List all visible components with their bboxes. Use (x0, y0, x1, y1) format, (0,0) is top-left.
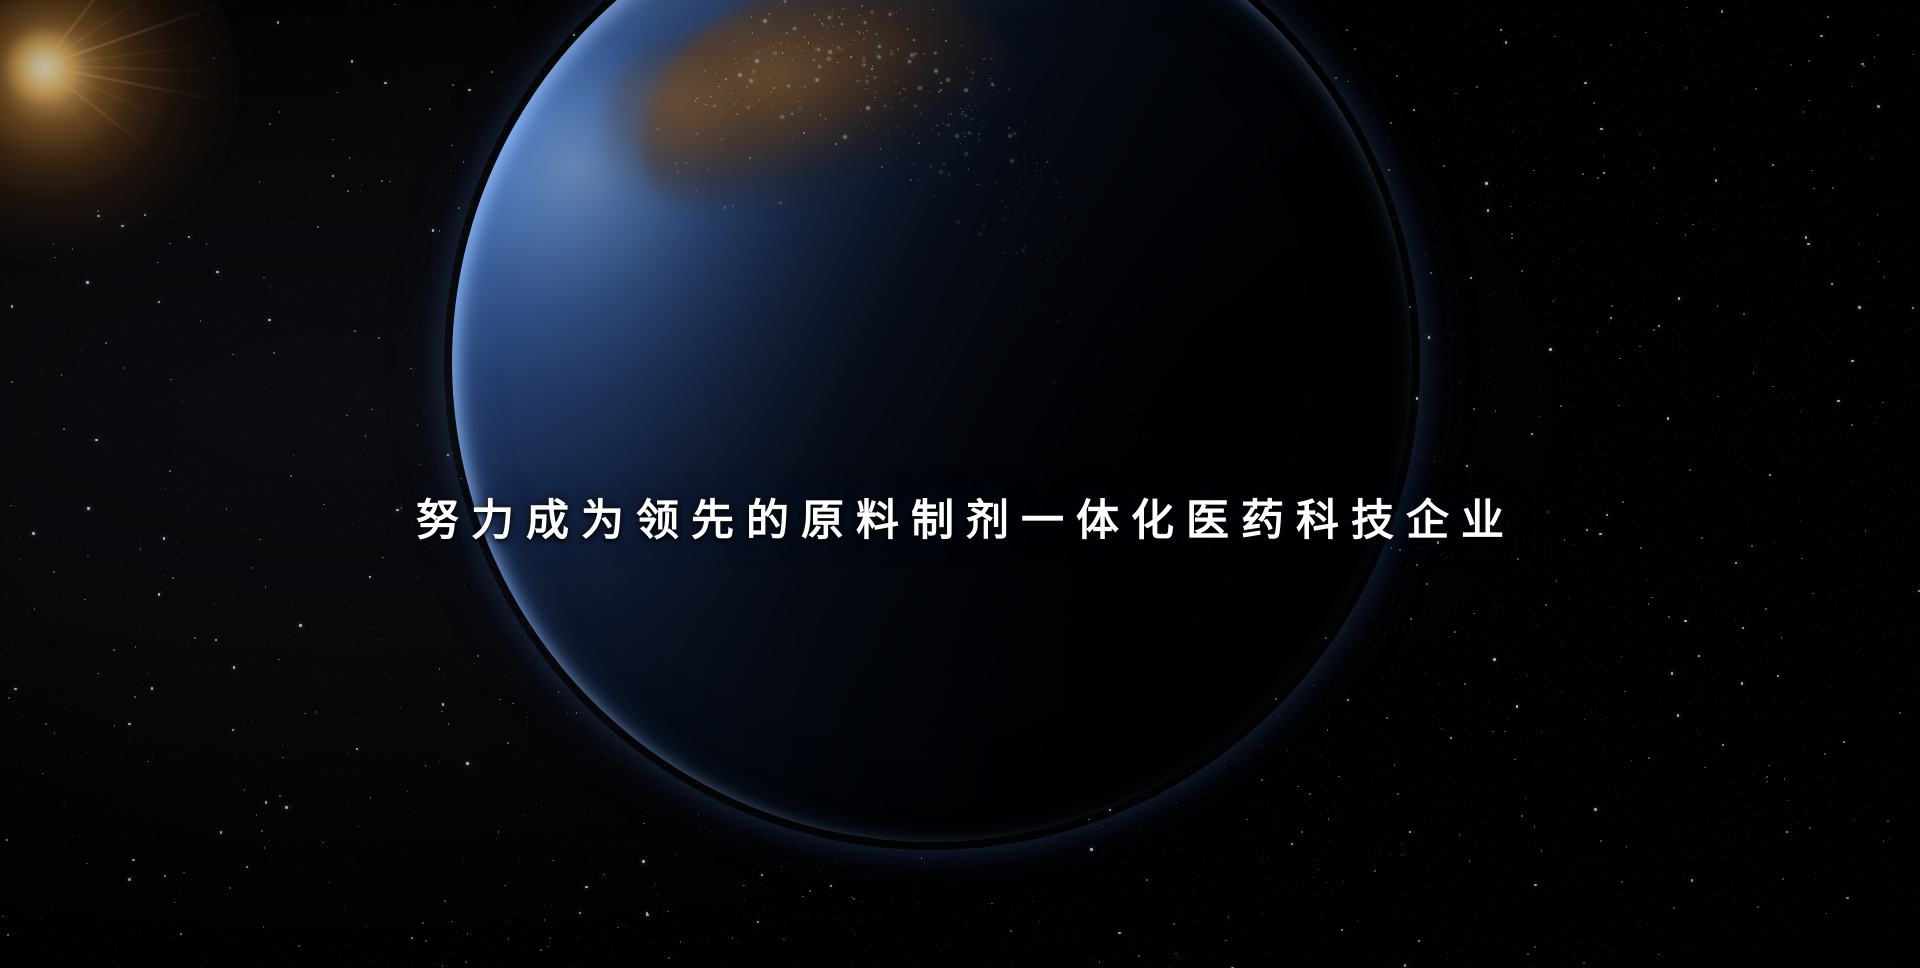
star (1436, 148, 1437, 149)
star (1667, 417, 1669, 419)
star (1454, 226, 1455, 227)
star (1341, 929, 1343, 931)
star (1594, 808, 1596, 810)
star (1901, 549, 1902, 550)
star (1628, 167, 1629, 168)
star (1722, 481, 1723, 482)
star (220, 831, 222, 833)
star (319, 576, 320, 577)
star (312, 73, 313, 74)
star (327, 675, 328, 676)
star (467, 769, 468, 770)
star (279, 795, 281, 797)
star (397, 14, 398, 15)
star (353, 332, 354, 333)
star (1831, 343, 1832, 344)
star (1536, 102, 1537, 103)
star (203, 27, 204, 28)
star (388, 204, 389, 205)
star (365, 438, 366, 439)
star (95, 439, 97, 441)
star (311, 625, 312, 626)
star (53, 876, 54, 877)
star (195, 461, 196, 462)
star (1575, 249, 1576, 250)
star (455, 952, 456, 953)
star (68, 382, 69, 383)
star (1, 333, 2, 334)
star (1905, 414, 1906, 415)
star (1533, 243, 1534, 244)
star (130, 216, 131, 217)
star (663, 904, 664, 905)
star (1782, 857, 1783, 858)
star (1414, 471, 1415, 472)
star (266, 137, 267, 138)
star (1128, 932, 1129, 933)
star (1518, 60, 1519, 61)
star (1805, 236, 1807, 238)
star (1697, 576, 1698, 577)
star (84, 275, 85, 276)
star (1129, 849, 1130, 850)
star (1684, 620, 1686, 622)
star (98, 628, 99, 629)
star (417, 424, 419, 426)
star (1390, 201, 1391, 202)
star (238, 143, 239, 144)
star (432, 619, 433, 620)
star (455, 895, 456, 896)
star (244, 789, 246, 791)
star (451, 759, 452, 760)
star (240, 20, 241, 21)
star (1502, 266, 1503, 267)
star (515, 912, 516, 913)
star (1812, 420, 1813, 421)
star (1474, 393, 1475, 394)
star (921, 857, 923, 859)
star (1686, 951, 1687, 952)
star (819, 871, 820, 872)
star (1521, 815, 1523, 817)
star (343, 188, 344, 189)
star (1683, 872, 1684, 873)
star (1534, 234, 1535, 235)
star (1661, 339, 1662, 340)
star (1557, 636, 1558, 637)
star (1399, 549, 1401, 551)
star (1417, 566, 1418, 567)
star (227, 894, 228, 895)
star (482, 666, 483, 667)
star (1715, 212, 1716, 213)
star (344, 601, 345, 602)
star (1634, 1, 1635, 2)
star (220, 775, 221, 776)
star (1600, 128, 1602, 130)
star (1430, 750, 1431, 751)
star (1545, 193, 1546, 194)
star (603, 736, 604, 737)
star (378, 337, 380, 339)
star (1830, 631, 1831, 632)
star (1766, 643, 1767, 644)
star (47, 426, 48, 427)
star (1275, 698, 1277, 700)
star (1884, 960, 1885, 961)
star (576, 936, 577, 937)
star (1894, 928, 1895, 929)
star (1773, 134, 1774, 135)
star (11, 381, 13, 383)
star (391, 549, 392, 550)
star (1777, 450, 1778, 451)
star (374, 620, 375, 621)
star (261, 830, 263, 832)
star (21, 739, 22, 740)
star (69, 245, 70, 246)
star (1730, 442, 1731, 443)
star (1500, 596, 1501, 597)
star (1596, 708, 1597, 709)
star (44, 834, 45, 835)
star (278, 666, 279, 667)
star (14, 743, 15, 744)
star (434, 303, 435, 304)
star (1824, 753, 1826, 755)
star (248, 762, 249, 763)
star (676, 926, 677, 927)
star (1758, 864, 1759, 865)
star (1685, 387, 1686, 388)
star (298, 945, 300, 947)
star (1642, 149, 1643, 150)
star (1687, 215, 1688, 216)
star (1904, 485, 1905, 486)
star (269, 123, 271, 125)
star (265, 491, 266, 492)
star (1694, 829, 1695, 830)
star (319, 872, 320, 873)
star (1863, 65, 1865, 67)
star (1349, 53, 1350, 54)
star (385, 801, 386, 802)
star (1487, 209, 1489, 211)
star (87, 752, 88, 753)
star (1271, 952, 1272, 953)
star (158, 576, 159, 577)
star (1880, 859, 1881, 860)
star (1335, 77, 1337, 79)
star (1313, 872, 1314, 873)
star (91, 625, 92, 626)
star (1307, 60, 1308, 61)
star (352, 866, 353, 867)
star (318, 632, 319, 633)
star (1839, 929, 1840, 930)
star (1861, 873, 1862, 874)
star (169, 470, 171, 472)
star (243, 722, 244, 723)
star (1774, 55, 1775, 56)
star (1912, 666, 1913, 667)
star (365, 588, 366, 589)
star (236, 757, 237, 758)
star (1028, 890, 1029, 891)
star (1806, 784, 1807, 785)
star (477, 655, 479, 657)
star (290, 475, 292, 477)
star (1476, 86, 1478, 88)
star (324, 922, 325, 923)
star (1875, 361, 1876, 362)
star (1451, 649, 1452, 650)
star (1348, 719, 1349, 720)
star (43, 597, 44, 598)
star (1026, 949, 1027, 950)
star (373, 155, 374, 156)
star (241, 434, 242, 435)
star (937, 877, 938, 878)
star (1888, 204, 1889, 205)
star (361, 550, 362, 551)
star (391, 396, 392, 397)
star (1810, 370, 1811, 371)
star (286, 787, 287, 788)
star (1673, 907, 1675, 909)
star (1658, 325, 1660, 327)
star (1871, 158, 1873, 160)
star (328, 730, 329, 731)
star (1835, 217, 1836, 218)
star (34, 636, 35, 637)
star (1664, 126, 1665, 127)
star (295, 64, 296, 65)
star (1680, 668, 1681, 669)
star (1473, 408, 1475, 410)
star (507, 742, 509, 744)
star (1851, 424, 1853, 426)
star (1611, 387, 1612, 388)
star (1459, 677, 1460, 678)
star (179, 478, 180, 479)
star (97, 673, 99, 675)
star (363, 73, 364, 74)
star (340, 956, 341, 957)
star (504, 921, 505, 922)
star (230, 782, 231, 783)
star (424, 551, 425, 552)
star (455, 108, 456, 109)
star (1574, 775, 1575, 776)
star (1538, 87, 1539, 88)
star (73, 379, 74, 380)
star (86, 281, 88, 283)
star (1739, 447, 1740, 448)
star (355, 772, 356, 773)
star (394, 473, 395, 474)
star (263, 277, 265, 279)
star (1179, 783, 1180, 784)
star (468, 89, 470, 91)
star (361, 184, 362, 185)
star (1747, 21, 1748, 22)
star (1585, 706, 1586, 707)
star (1458, 453, 1459, 454)
star (121, 225, 123, 227)
star (285, 606, 286, 607)
star (175, 725, 176, 726)
star (359, 307, 360, 308)
star (1443, 165, 1445, 167)
star (1452, 586, 1453, 587)
star (318, 454, 319, 455)
star (646, 914, 648, 916)
star (952, 918, 953, 919)
star (20, 242, 21, 243)
star (1690, 571, 1691, 572)
star (237, 257, 238, 258)
star (1593, 959, 1594, 960)
star (256, 814, 258, 816)
star (908, 959, 909, 960)
star (1416, 397, 1418, 399)
star (1424, 672, 1425, 673)
star (1885, 763, 1886, 764)
star (1654, 932, 1655, 933)
star (134, 696, 136, 698)
star (1771, 51, 1772, 52)
star (458, 789, 459, 790)
star (1640, 547, 1642, 549)
star (305, 382, 306, 383)
star (1858, 243, 1859, 244)
star (1379, 961, 1380, 962)
star (231, 2, 232, 3)
star (1102, 826, 1103, 827)
star (1304, 750, 1305, 751)
star (1608, 321, 1609, 322)
star (1840, 179, 1841, 180)
star (511, 786, 512, 787)
star (380, 840, 381, 841)
star (1520, 297, 1521, 298)
star (425, 302, 426, 303)
star (1510, 655, 1511, 656)
star (1652, 407, 1653, 408)
star (1583, 962, 1585, 964)
star (1802, 29, 1803, 30)
star (1464, 715, 1465, 716)
star (1658, 208, 1659, 209)
star (430, 883, 431, 884)
star (428, 152, 429, 153)
star (1771, 377, 1772, 378)
star (1683, 902, 1684, 903)
star (1904, 628, 1905, 629)
star (336, 92, 338, 94)
star (1629, 718, 1630, 719)
star (1913, 322, 1914, 323)
star (486, 967, 487, 968)
star (1689, 469, 1691, 471)
star (54, 257, 56, 259)
star (1625, 397, 1626, 398)
star (1831, 687, 1832, 688)
star (260, 846, 261, 847)
star (606, 901, 607, 902)
star (309, 697, 310, 698)
star (508, 894, 509, 895)
star (97, 276, 98, 277)
star (1733, 783, 1734, 784)
star (1261, 779, 1263, 781)
star (487, 900, 488, 901)
star (208, 922, 209, 923)
star (1272, 892, 1273, 893)
star (443, 654, 444, 655)
star (1441, 571, 1442, 572)
star (130, 636, 131, 637)
star (1426, 592, 1427, 593)
star (1806, 11, 1807, 12)
star (294, 248, 295, 249)
star (102, 795, 103, 796)
star (408, 272, 409, 273)
star (75, 583, 76, 584)
star (343, 771, 344, 772)
star (1728, 603, 1729, 604)
star (159, 850, 160, 851)
star (1516, 377, 1517, 378)
star (437, 478, 438, 479)
star (1572, 274, 1573, 275)
star (1409, 306, 1411, 308)
star (591, 947, 592, 948)
star (158, 593, 160, 595)
star (372, 250, 373, 251)
star (1884, 549, 1885, 550)
star (1831, 39, 1832, 40)
star (318, 34, 319, 35)
star (1829, 790, 1830, 791)
star (1689, 75, 1690, 76)
star (1796, 284, 1797, 285)
star (1734, 235, 1735, 236)
star (355, 319, 356, 320)
star (1818, 776, 1819, 777)
star (1790, 64, 1792, 66)
star (282, 296, 283, 297)
star (1559, 327, 1560, 328)
star (1639, 874, 1640, 875)
star (1653, 329, 1655, 331)
star (1600, 840, 1602, 842)
star (1832, 777, 1833, 778)
star (1448, 777, 1449, 778)
star (1281, 886, 1282, 887)
star (1893, 574, 1894, 575)
star (154, 806, 155, 807)
star (1846, 897, 1848, 899)
star (257, 850, 258, 851)
star (27, 612, 28, 613)
star (1577, 827, 1578, 828)
star (526, 721, 527, 722)
star (317, 226, 319, 228)
star (1690, 949, 1691, 950)
